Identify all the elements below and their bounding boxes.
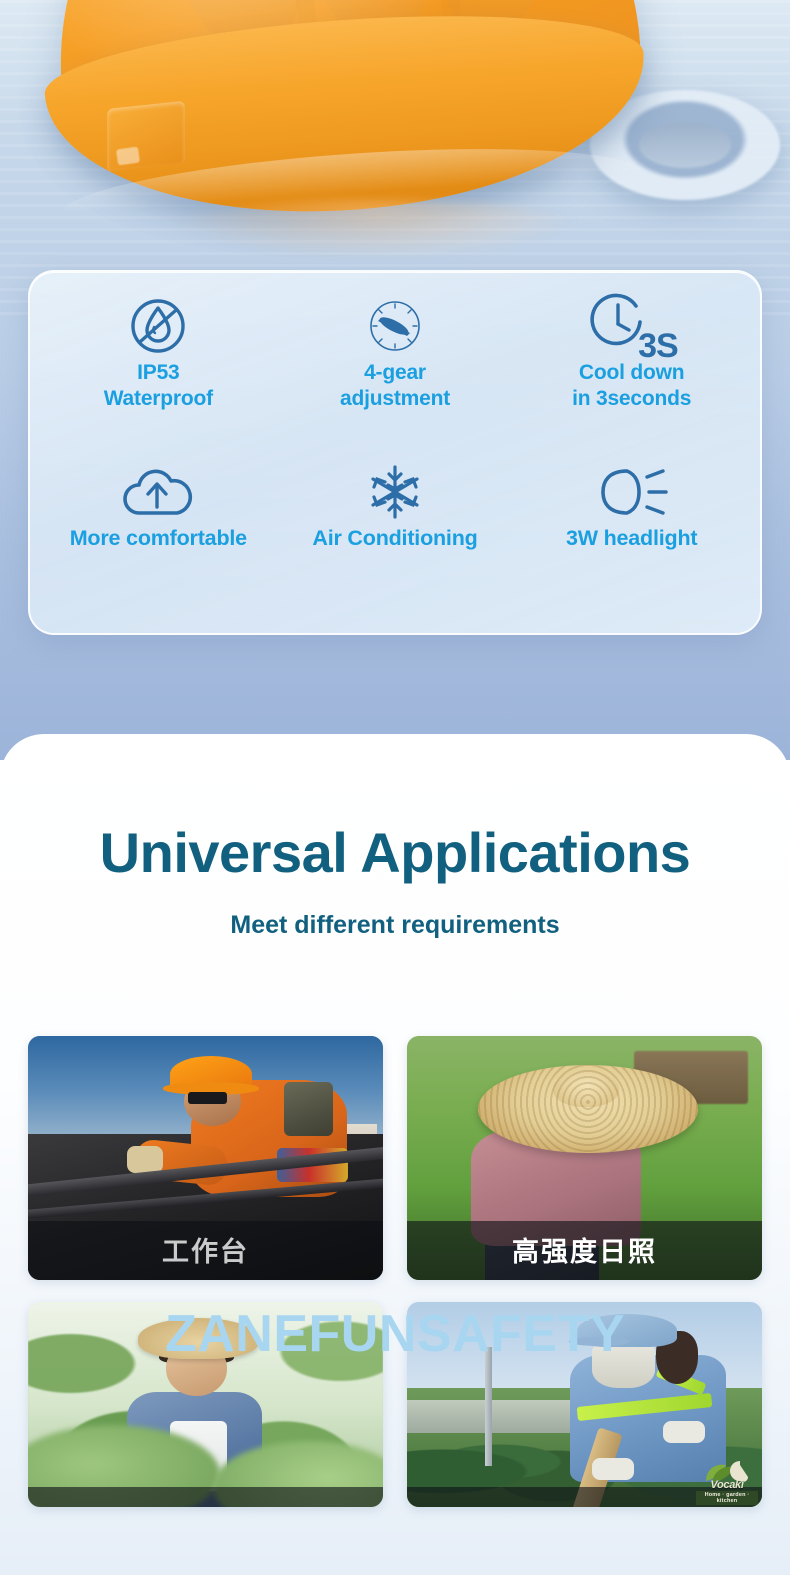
logo-tagline: Home · garden · kitchen (696, 1491, 758, 1505)
photo-worker-glove (663, 1421, 706, 1444)
feature-label: Cool down in 3seconds (572, 360, 691, 411)
application-photo-sanitation-worker[interactable]: Vocaki Home · garden · kitchen (407, 1302, 762, 1507)
headlight-icon (591, 461, 673, 523)
cloud-upload-icon (117, 461, 199, 523)
photo-straw-hat-weave (478, 1065, 698, 1153)
helmet-bracket-marking (116, 147, 140, 166)
photo-tool-pack (284, 1082, 334, 1136)
applications-section: Universal Applications Meet different re… (0, 734, 790, 1575)
application-photo-greenhouse-farmer[interactable] (28, 1302, 383, 1507)
helmet-reflection (165, 200, 585, 260)
cool-down-badge: 3S (638, 327, 678, 366)
feature-cool-down: 3S Cool down in 3seconds (513, 296, 750, 457)
feature-label: IP53 Waterproof (104, 360, 213, 411)
brand-logo-watermark: Vocaki Home · garden · kitchen (696, 1461, 758, 1503)
feature-headlight: 3W headlight (513, 457, 750, 618)
feature-grid: IP53 Waterproof (30, 272, 760, 633)
photo-sun-cap (577, 1314, 676, 1347)
feature-label: 3W headlight (566, 525, 697, 551)
photo-straw-hat (138, 1318, 259, 1359)
photo-worker-glove (127, 1146, 163, 1173)
feature-air-conditioning: Air Conditioning (277, 457, 514, 618)
snowflake-icon (359, 461, 431, 523)
hero-banner: IP53 Waterproof (0, 0, 790, 760)
feature-gear-adjustment: 4-gear adjustment (277, 296, 514, 457)
feature-label: 4-gear adjustment (340, 360, 450, 411)
feature-waterproof: IP53 Waterproof (40, 296, 277, 457)
compass-dial-icon (360, 296, 430, 358)
photo-sunglasses (188, 1092, 227, 1104)
logo-name: Vocaki (698, 1479, 756, 1491)
photo-lamp-post (485, 1347, 492, 1466)
safety-helmet-image (55, 0, 635, 240)
photo-caption: 工作台 (28, 1221, 383, 1280)
page-subtitle: Meet different requirements (0, 911, 790, 940)
application-photo-roof-worker[interactable]: 工作台 (28, 1036, 383, 1280)
photo-caption (28, 1487, 383, 1507)
clock-3s-group: 3S (578, 296, 686, 358)
application-photo-grid: 工作台 高强度日照 (28, 1036, 762, 1507)
photo-sun-mask (592, 1343, 656, 1388)
product-detail-page: IP53 Waterproof (0, 0, 790, 1575)
feature-panel: IP53 Waterproof (28, 270, 762, 635)
feature-label: Air Conditioning (312, 525, 477, 551)
page-title: Universal Applications (0, 820, 790, 885)
waterproof-drop-icon (123, 296, 193, 358)
feature-label: More comfortable (70, 525, 247, 551)
application-photo-tea-farmer[interactable]: 高强度日照 (407, 1036, 762, 1280)
photo-worker-glove (592, 1458, 635, 1481)
photo-caption: 高强度日照 (407, 1221, 762, 1280)
feature-more-comfortable: More comfortable (40, 457, 277, 618)
